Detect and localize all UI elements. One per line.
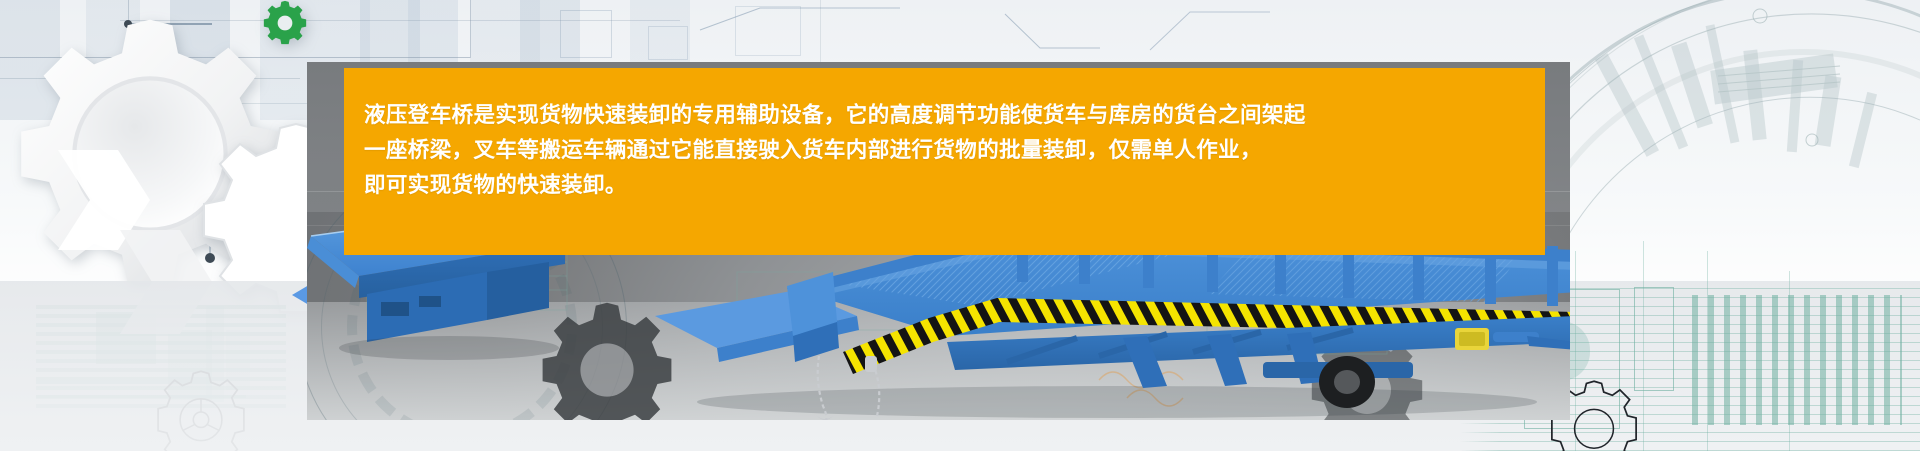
blueprint-line xyxy=(470,0,471,58)
circuit-pattern xyxy=(226,330,250,390)
blueprint-rect xyxy=(560,10,612,58)
circuit-pattern xyxy=(206,306,224,402)
circuit-pattern xyxy=(96,312,156,364)
blueprint-line xyxy=(120,20,680,21)
gear-icon xyxy=(10,14,290,294)
circuit-pattern xyxy=(1634,287,1674,391)
gear-icon xyxy=(262,0,308,46)
callout-line-3: 即可实现货物的快速装卸。 xyxy=(364,168,1545,203)
circuit-pattern xyxy=(1707,251,1708,451)
circuit-pattern xyxy=(1692,295,1902,425)
callout-line-2: 一座桥梁，叉车等搬运车辆通过它能直接驶入货车内部进行货物的批量装卸，仅需单人作业… xyxy=(364,133,1545,168)
blueprint-line xyxy=(128,0,129,60)
callout-box: 液压登车桥是实现货物快速装卸的专用辅助设备，它的高度调节功能使货车与库房的货台之… xyxy=(344,68,1545,255)
callout-text: 液压登车桥是实现货物快速装卸的专用辅助设备，它的高度调节功能使货车与库房的货台之… xyxy=(364,98,1545,203)
hero-banner: 液压登车桥是实现货物快速装卸的专用辅助设备，它的高度调节功能使货车与库房的货台之… xyxy=(0,0,1920,451)
blueprint-rect xyxy=(648,26,688,60)
circuit-pattern xyxy=(36,381,212,384)
blueprint-rect xyxy=(735,6,801,56)
circuit-pattern xyxy=(36,305,286,410)
gear-outline-icon xyxy=(146,368,256,451)
callout-line-1: 液压登车桥是实现货物快速装卸的专用辅助设备，它的高度调节功能使货车与库房的货台之… xyxy=(364,98,1545,133)
circuit-pattern xyxy=(1789,271,1790,451)
blueprint-line xyxy=(0,57,470,58)
circuit-pattern xyxy=(36,395,246,398)
circuit-pattern xyxy=(1575,251,1576,451)
circuit-pattern xyxy=(168,330,212,400)
blueprint-line xyxy=(0,78,300,79)
circuit-pattern xyxy=(1643,241,1644,451)
